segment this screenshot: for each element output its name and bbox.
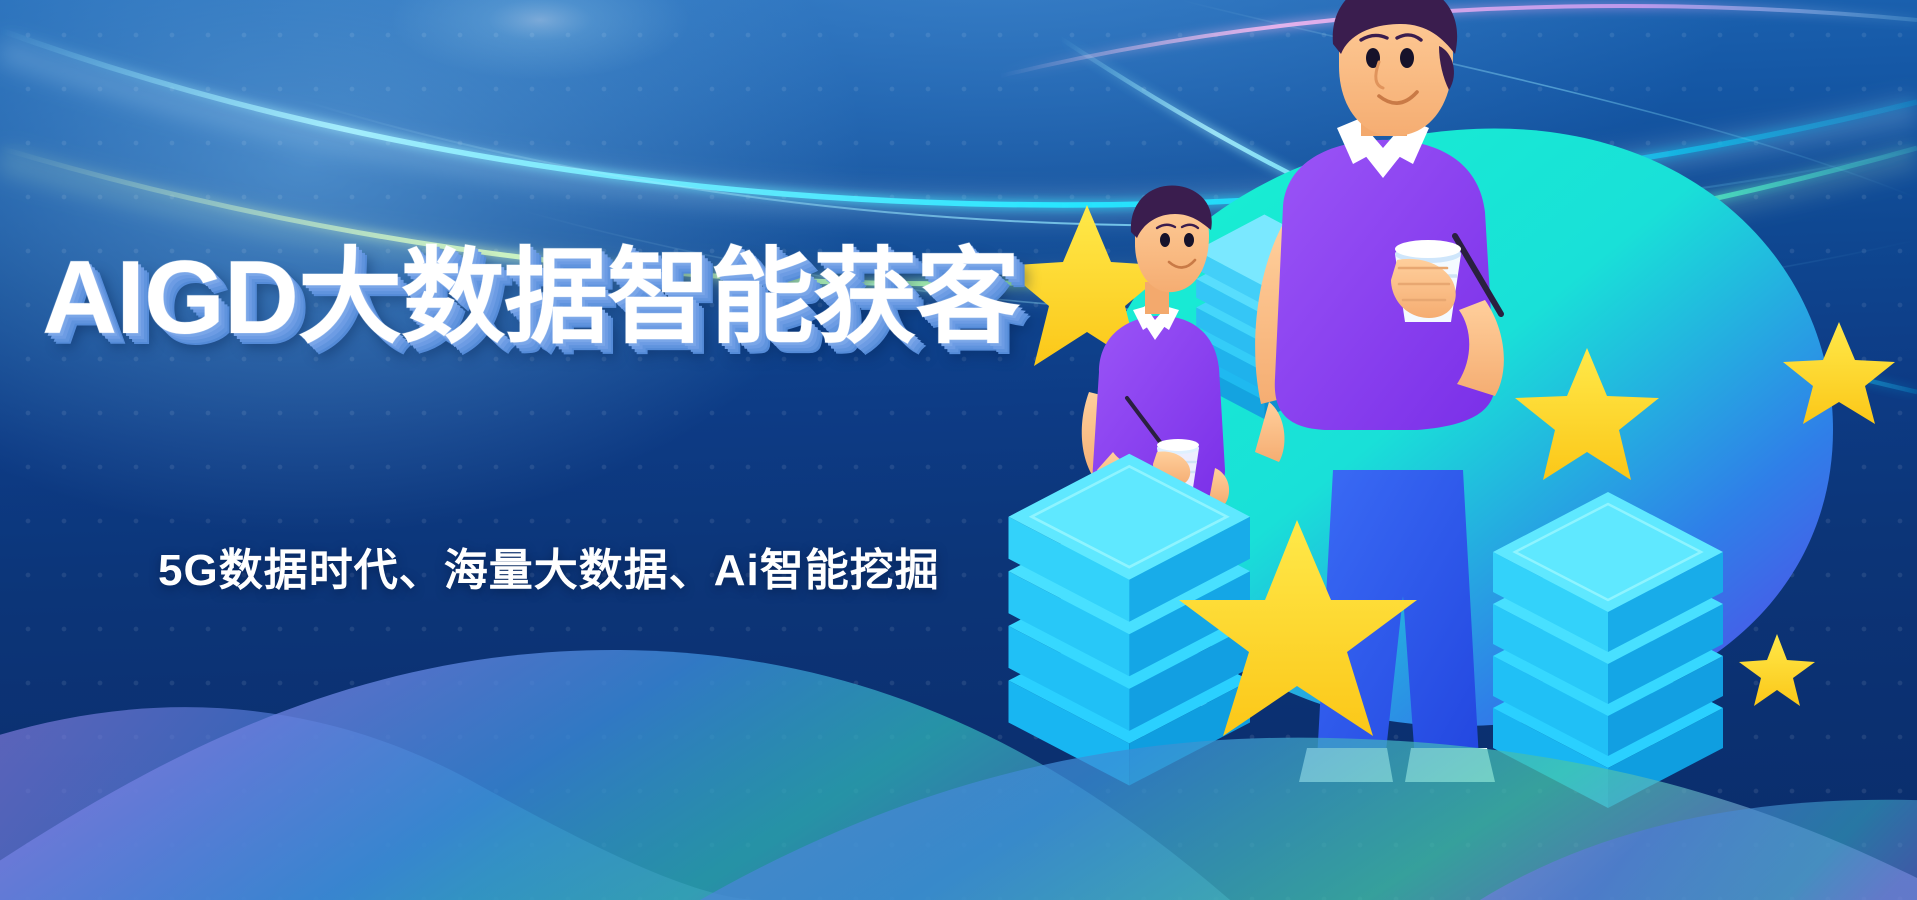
page-subtitle: 5G数据时代、海量大数据、Ai智能挖掘 [158, 534, 940, 598]
big-data-people-servers-illustration [987, 0, 1917, 900]
banner-root: AIGD大数据智能获客 5G数据时代、海量大数据、Ai智能挖掘 [0, 0, 1917, 900]
page-title: AIGD大数据智能获客 [42, 246, 1019, 350]
server-stack-right [1493, 492, 1723, 808]
star-far-right [1783, 322, 1895, 424]
person-small-with-cup [1082, 185, 1229, 706]
star-mid-right [1515, 348, 1659, 480]
dot-grid-pattern [0, 0, 1917, 900]
star-large-left [1001, 205, 1173, 366]
server-stack-left [1009, 454, 1251, 786]
person-large-with-cup [1255, 0, 1504, 782]
star-tiny-bottom-right [1739, 634, 1815, 706]
teal-circle-backdrop [1095, 129, 1833, 726]
server-stack-top [1196, 215, 1332, 420]
star-center-bottom [1179, 520, 1417, 736]
